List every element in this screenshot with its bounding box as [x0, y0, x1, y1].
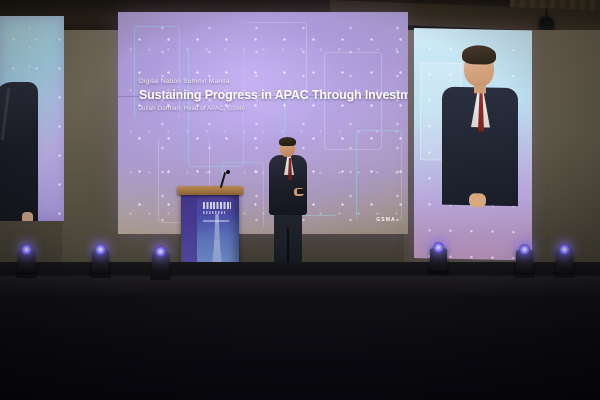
- main-presentation-screen: Digital Nation Summit Manila Sustaining …: [118, 12, 408, 234]
- stage-light-icon: [430, 248, 447, 271]
- slide-speaker-credit: Julian Gorman, Head of APAC, GSMA: [139, 106, 389, 112]
- stage-light-icon: [92, 250, 109, 273]
- microphone-icon: [226, 170, 230, 174]
- right-camera-feed-screen: [414, 28, 532, 260]
- screen-sparkles: [118, 12, 408, 234]
- slide-event-name: Digital Nation Summit Manila: [139, 78, 389, 85]
- lectern: [181, 194, 239, 270]
- speaker-hair: [279, 137, 296, 146]
- stage-light-icon: [18, 250, 35, 273]
- lectern-side-panel: [181, 194, 197, 270]
- left-screen-hand: [22, 212, 33, 221]
- lectern-logo-icon: [203, 202, 231, 209]
- lectern-subtitle-mark: [203, 211, 225, 214]
- presentation-clicker: [297, 189, 304, 194]
- slide-text-block: Digital Nation Summit Manila Sustaining …: [139, 78, 389, 112]
- left-screen-figure: [0, 82, 38, 221]
- stage-light-icon: [556, 250, 573, 273]
- feed-speaker-hand: [469, 193, 486, 207]
- conference-photo: Digital Nation Summit Manila Sustaining …: [0, 0, 600, 400]
- lectern-top: [177, 186, 243, 195]
- audience-area: [0, 274, 600, 400]
- lectern-date-mark: [203, 220, 229, 222]
- stage-light-icon: [516, 250, 533, 273]
- stage-light-icon: [152, 252, 169, 275]
- gsma-logo: GSMA: [376, 217, 396, 223]
- feed-speaker-hair: [462, 45, 496, 65]
- slide-headline: Sustaining Progress in APAC Through Inve…: [139, 89, 389, 102]
- left-projection-screen: [0, 16, 64, 221]
